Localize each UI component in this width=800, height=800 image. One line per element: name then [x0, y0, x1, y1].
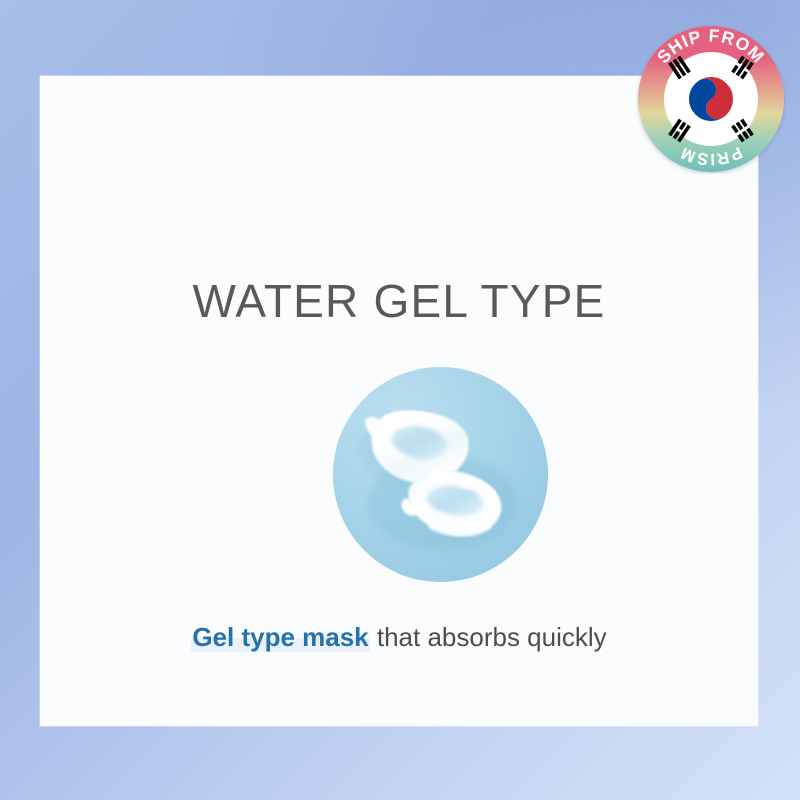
product-caption: Gel type mask that absorbs quickly: [40, 622, 758, 653]
caption-highlight: Gel type mask: [191, 622, 369, 652]
caption-rest: that absorbs quickly: [370, 622, 607, 652]
gel-swirl-photo: [333, 367, 548, 582]
promo-canvas: WATER GEL TYPE: [0, 0, 800, 800]
product-image-circle: [333, 367, 548, 582]
page-title: WATER GEL TYPE: [40, 274, 758, 328]
ship-from-badge: SHIP FROM PRISM: [636, 24, 786, 174]
